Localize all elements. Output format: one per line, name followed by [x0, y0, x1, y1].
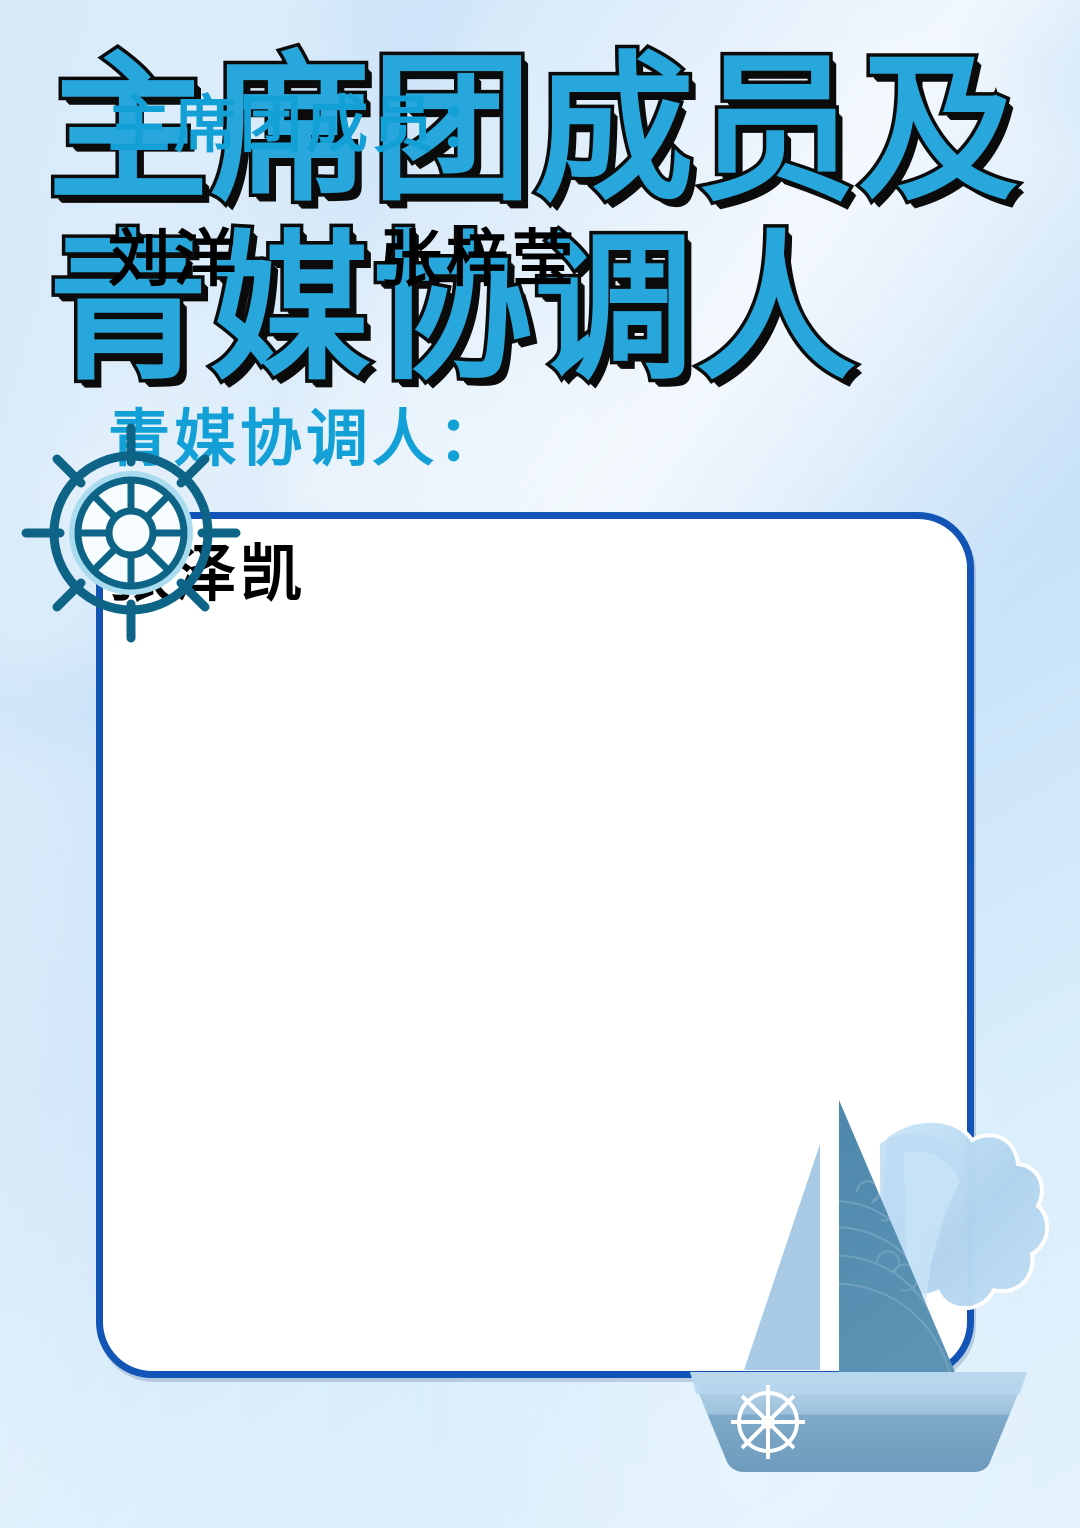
section-spacer — [108, 294, 1032, 406]
presidium-section: 主席团成员： 刘洋 张梓莹 — [108, 92, 1032, 294]
poster-canvas: 主席团成员及 青媒协调人 — [0, 0, 1080, 1528]
sailboat-icon — [672, 1082, 1062, 1482]
coordinator-names: 张泽凯 — [108, 541, 1032, 609]
coordinator-heading: 青媒协调人： — [108, 406, 1032, 474]
coordinator-section: 青媒协调人： 张泽凯 — [108, 406, 1032, 608]
card-content: 主席团成员： 刘洋 张梓莹 青媒协调人： 张泽凯 — [108, 92, 1032, 609]
list-item: 刘洋 — [108, 226, 240, 294]
presidium-names: 刘洋 张梓莹 — [108, 226, 1032, 294]
front-sail — [744, 1144, 820, 1370]
presidium-heading: 主席团成员： — [108, 92, 1032, 160]
ship-wheel-icon — [16, 418, 246, 648]
boat-ship-wheel-icon — [731, 1385, 805, 1459]
list-item: 张梓莹 — [380, 226, 578, 294]
